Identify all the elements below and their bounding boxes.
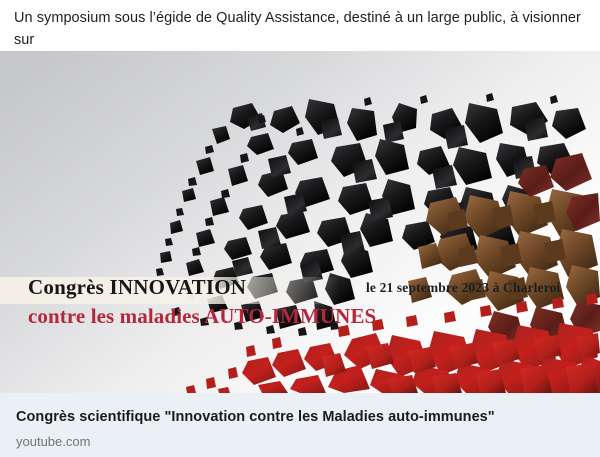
shatter-artwork: [0, 51, 600, 393]
banner-date-location: le 21 septembre 2023 à Charleroi: [366, 280, 560, 296]
post-body-text: Un symposium sous l’égide de Quality Ass…: [0, 0, 600, 51]
link-preview-domain: youtube.com: [16, 433, 584, 450]
banner-image[interactable]: Congrès INNOVATION contre les maladies A…: [0, 51, 600, 393]
link-preview-caption[interactable]: Congrès scientifique "Innovation contre …: [0, 393, 600, 457]
link-preview-card[interactable]: Congrès INNOVATION contre les maladies A…: [0, 51, 600, 457]
page-root: Un symposium sous l’égide de Quality Ass…: [0, 0, 600, 457]
link-preview-title[interactable]: Congrès scientifique "Innovation contre …: [16, 407, 584, 427]
banner-title-line-2: contre les maladies AUTO-IMMUNES: [28, 302, 458, 330]
